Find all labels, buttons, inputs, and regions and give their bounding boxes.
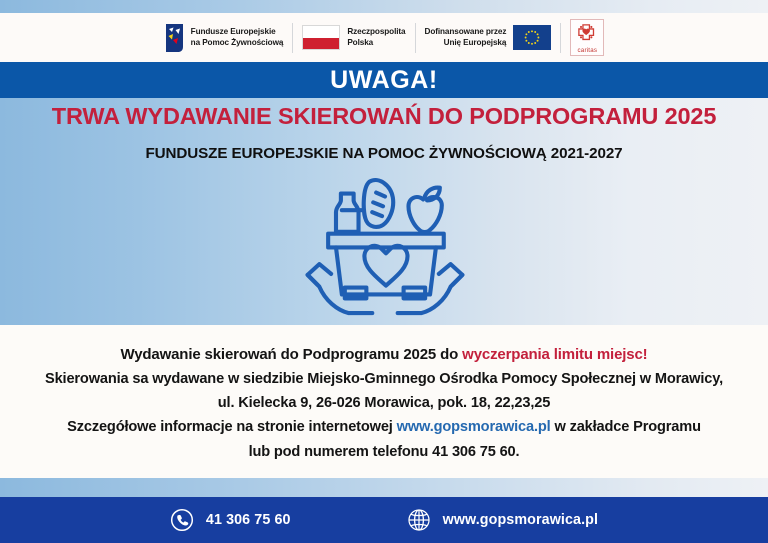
footer-phone-number[interactable]: 41 306 75 60 [206,512,291,528]
logo-bar: Fundusze Europejskie na Pomoc Żywnościow… [0,13,768,62]
eu-funds-flag-icon [164,23,185,53]
logo-line-2: Unię Europejską [444,38,507,47]
page-title: TRWA WYDAWANIE SKIEROWAŃ DO PODPROGRAMU … [52,105,717,129]
body-line-2: Skierowania sa wydawane w siedzibie Miej… [45,372,723,387]
body-line-4-prefix: Szczegółowe informacje na stronie intern… [67,419,397,435]
logo-caritas: caritas [561,21,613,55]
footer-phone-item[interactable]: 41 306 75 60 [170,508,291,532]
footer-website-url[interactable]: www.gopsmorawica.pl [443,512,599,528]
body-line-1: Wydawanie skierowań do Podprogramu 2025 … [120,347,647,363]
logo-fundusze-europejskie: Fundusze Europejskie na Pomoc Żywnościow… [155,21,293,55]
logo-rzeczpospolita-polska: Rzeczpospolita Polska [293,21,414,55]
food-basket-in-hands-with-heart-icon [286,172,482,317]
logo-line-1: Dofinansowane przez [425,27,507,36]
attention-label: UWAGA! [330,68,438,93]
subtitle-zone: FUNDUSZE EUROPEJSKIE NA POMOC ŻYWNOŚCIOW… [0,140,768,168]
caritas-wordmark: caritas [571,47,603,54]
globe-icon [407,508,431,532]
poland-flag-icon [302,25,340,50]
body-line-1-accent: wyczerpania limitu miejsc! [462,346,647,363]
logo-line-1: Rzeczpospolita [347,27,405,36]
logo-line-1: Fundusze Europejskie [191,27,276,36]
phone-circle-icon [170,508,194,532]
logo-row: Fundusze Europejskie na Pomoc Żywnościow… [155,21,614,55]
illustration-zone [0,172,768,317]
logo-fundusze-europejskie-label: Fundusze Europejskie na Pomoc Żywnościow… [191,27,284,48]
poster-announcement: Fundusze Europejskie na Pomoc Żywnościow… [0,0,768,543]
body-line-4-suffix: w zakładce Programu [551,419,701,435]
logo-line-2: Polska [347,38,373,47]
website-link[interactable]: www.gopsmorawica.pl [397,419,551,435]
headline-zone: TRWA WYDAWANIE SKIEROWAŃ DO PODPROGRAMU … [0,98,768,136]
body-line-1-prefix: Wydawanie skierowań do Podprogramu 2025 … [120,346,462,363]
body-panel: Wydawanie skierowań do Podprogramu 2025 … [0,325,768,478]
logo-rzeczpospolita-label: Rzeczpospolita Polska [347,27,405,48]
logo-line-2: na Pomoc Żywnościową [191,38,284,47]
caritas-cross-icon: caritas [570,19,604,56]
logo-dofinansowane-label: Dofinansowane przez Unię Europejską [425,27,507,48]
footer-bar: 41 306 75 60 www.gopsmorawica.pl [0,497,768,543]
logo-dofinansowane-przez-ue: Dofinansowane przez Unię Europejską [416,21,561,55]
body-line-4: Szczegółowe informacje na stronie intern… [67,420,701,435]
footer-website-item[interactable]: www.gopsmorawica.pl [407,508,599,532]
program-subtitle: FUNDUSZE EUROPEJSKIE NA POMOC ŻYWNOŚCIOW… [145,146,622,161]
bottom-gradient-strip [0,478,768,497]
body-line-5: lub pod numerem telefonu 41 306 75 60. [249,445,520,460]
top-gradient-strip [0,0,768,13]
body-line-3: ul. Kielecka 9, 26-026 Morawica, pok. 18… [218,396,550,411]
european-union-flag-icon [513,25,551,50]
attention-band: UWAGA! [0,62,768,98]
